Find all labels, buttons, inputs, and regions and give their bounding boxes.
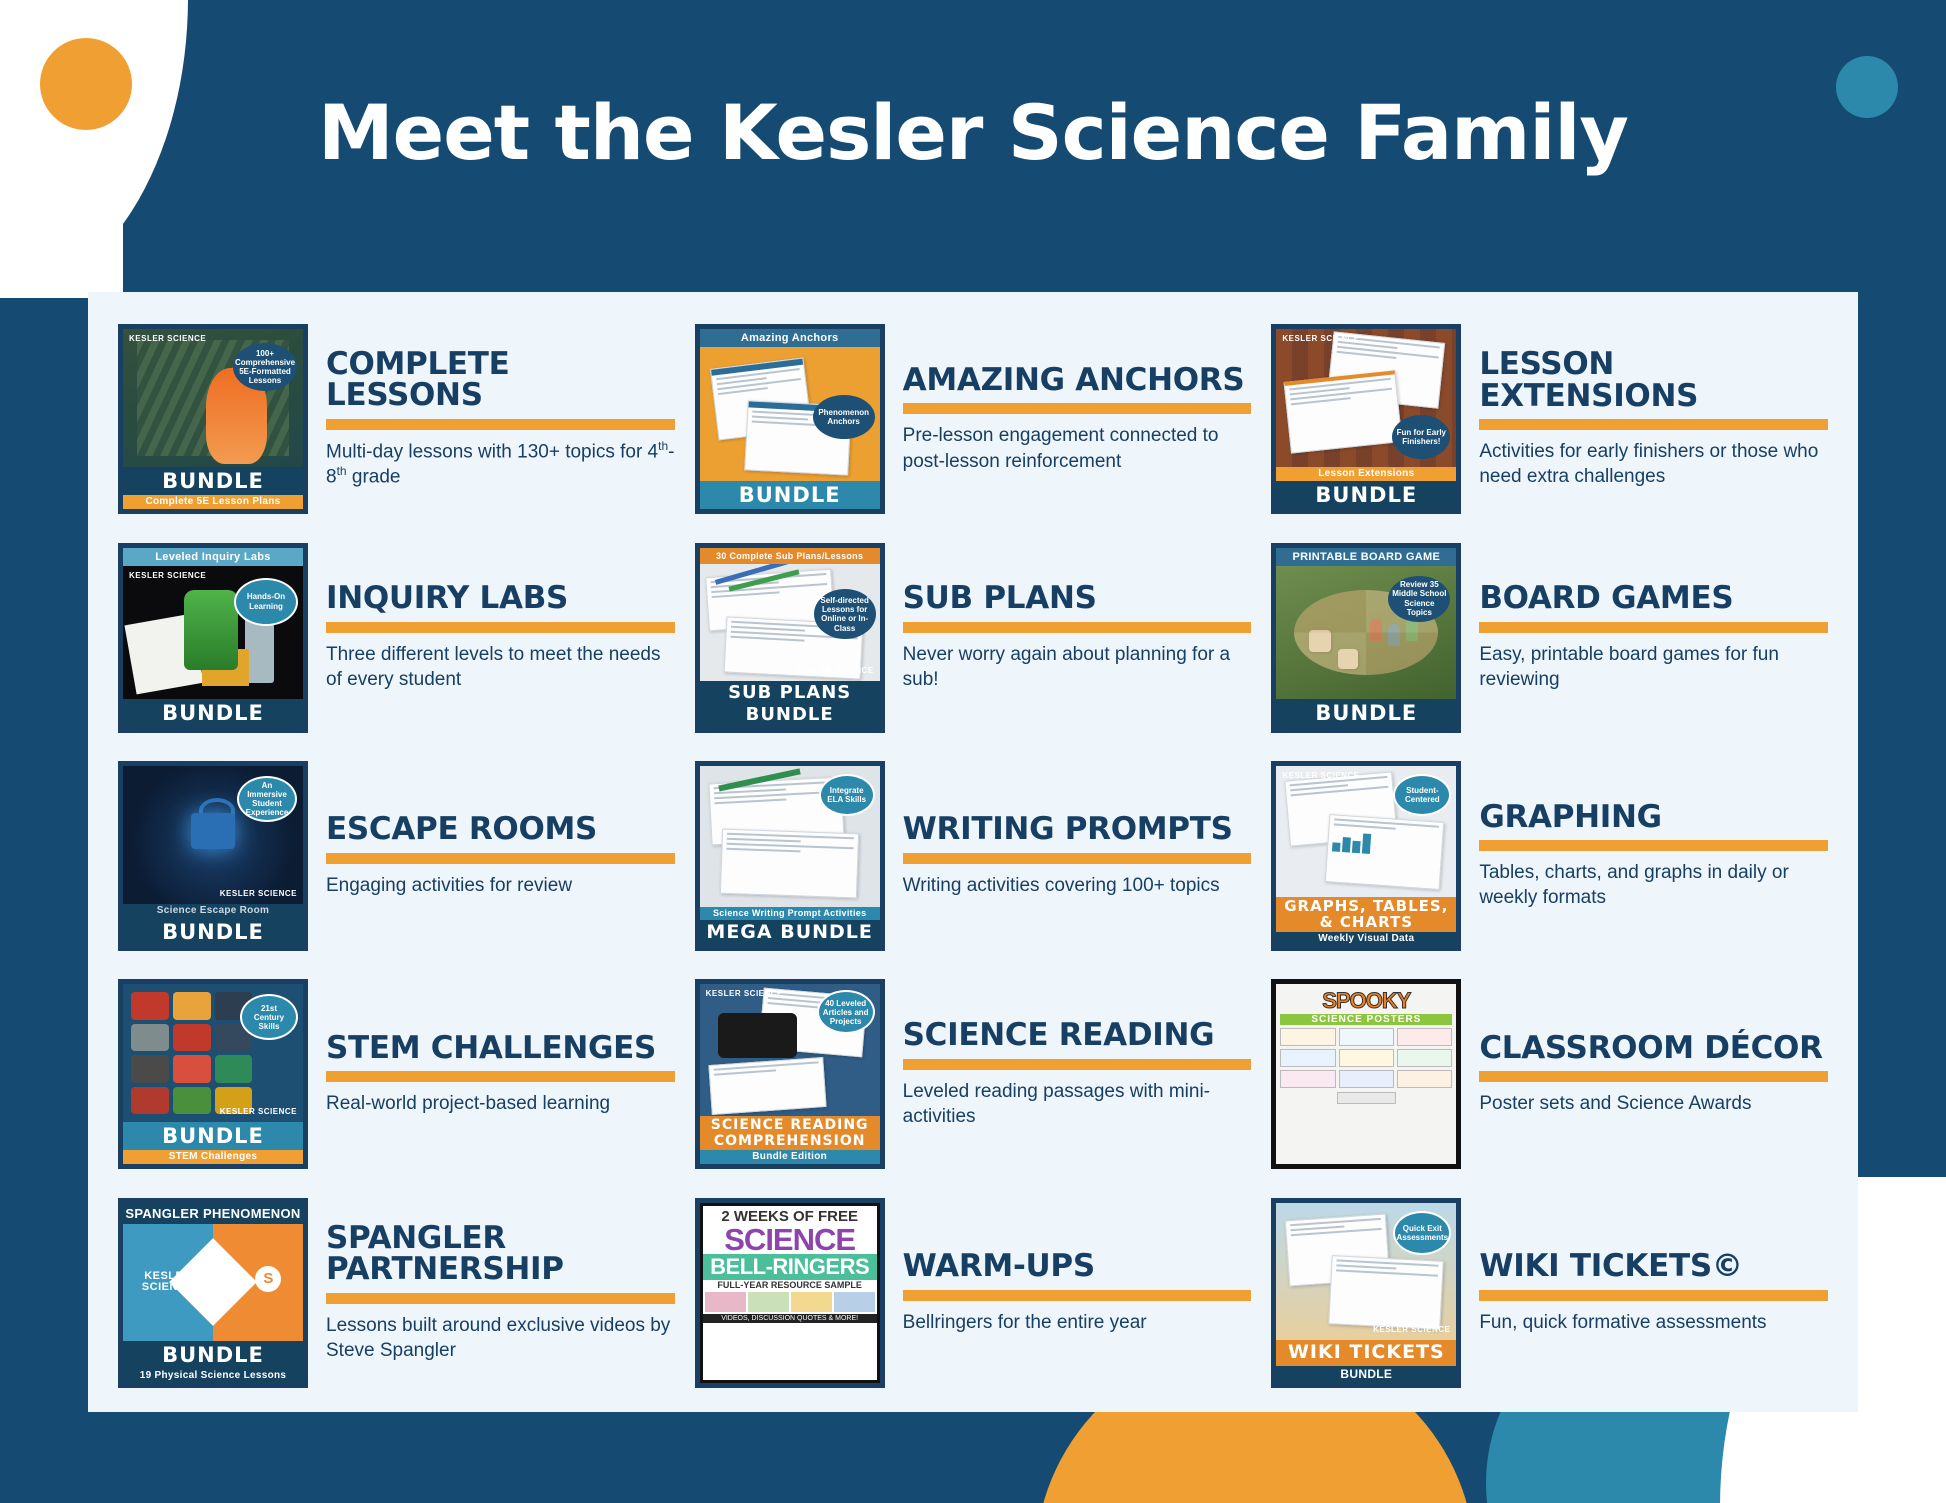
- card-description: Lessons built around exclusive videos by…: [326, 1313, 675, 1363]
- card-divider: [903, 1290, 1252, 1301]
- thumbnail-badge: An Immersive Student Experience: [237, 776, 297, 822]
- product-card-escape-rooms[interactable]: KESLER SCIENCE An Immersive Student Expe…: [112, 747, 681, 965]
- card-description: Tables, charts, and graphs in daily or w…: [1479, 860, 1828, 910]
- product-thumbnail[interactable]: KESLER SCIENCE Quick Exit Assessments WI…: [1271, 1198, 1461, 1388]
- thumbnail-sub-label: Science Writing Prompt Activities: [700, 907, 880, 920]
- card-description: Engaging activities for review: [326, 873, 675, 898]
- thumbnail-badge: 100+ Comprehensive 5E-Formatted Lessons: [233, 343, 297, 391]
- card-divider: [1479, 419, 1828, 430]
- product-card-lesson-extensions[interactable]: KESLER SCIENCE Fun for Early Finishers! …: [1265, 310, 1834, 528]
- card-body: CLASSROOM DÉCOR Poster sets and Science …: [1479, 1033, 1828, 1117]
- card-body: WRITING PROMPTS Writing activities cover…: [903, 814, 1252, 898]
- card-body: WIKI TICKETS© Fun, quick formative asses…: [1479, 1251, 1828, 1335]
- card-divider: [903, 403, 1252, 414]
- thumbnail-footer-label: SUB PLANS BUNDLE: [700, 681, 880, 728]
- card-description: Multi-day lessons with 130+ topics for 4…: [326, 439, 675, 490]
- product-card-spangler-partnership[interactable]: SPANGLER PHENOMENON KESLER SCIENCE S BUN…: [112, 1184, 681, 1402]
- kesler-logo-icon: KESLER SCIENCE: [706, 990, 783, 998]
- card-description: Writing activities covering 100+ topics: [903, 873, 1252, 898]
- kesler-logo-icon: KESLER SCIENCE: [1282, 335, 1359, 343]
- thumbnail-art-spooky-posters: SPOOKY SCIENCE POSTERS: [1276, 984, 1456, 1164]
- thumbnail-footer-label: GRAPHS, TABLES, & CHARTS: [1276, 897, 1456, 932]
- thumbnail-footer-label: BUNDLE: [123, 699, 303, 727]
- product-card-board-games[interactable]: PRINTABLE BOARD GAME Review 35 Middle Sc…: [1265, 528, 1834, 746]
- card-description: Real-world project-based learning: [326, 1091, 675, 1116]
- card-divider: [326, 853, 675, 864]
- thumbnail-sub-label: Bundle Edition: [700, 1150, 880, 1164]
- product-thumbnail[interactable]: KESLER SCIENCE 21st Century Skills BUNDL…: [118, 979, 308, 1169]
- card-title: SCIENCE READING: [903, 1020, 1252, 1052]
- thumbnail-badge: Self-directed Lessons for Online or In-C…: [814, 589, 876, 639]
- product-thumbnail[interactable]: 2 WEEKS OF FREE SCIENCE BELL-RINGERS FUL…: [695, 1198, 885, 1388]
- product-thumbnail[interactable]: SPANGLER PHENOMENON KESLER SCIENCE S BUN…: [118, 1198, 308, 1388]
- product-card-writing-prompts[interactable]: Integrate ELA Skills Science Writing Pro…: [689, 747, 1258, 965]
- product-thumbnail[interactable]: Amazing Anchors Phenomenon Anchors BUNDL…: [695, 324, 885, 514]
- thumbnail-top-label: PRINTABLE BOARD GAME: [1276, 548, 1456, 566]
- card-divider: [326, 1071, 675, 1082]
- thumbnail-footer-label: BUNDLE: [1276, 699, 1456, 727]
- card-title: ESCAPE ROOMS: [326, 814, 675, 846]
- product-card-science-reading[interactable]: KESLER SCIENCE 40 Leveled Articles and P…: [689, 965, 1258, 1183]
- card-divider: [1479, 622, 1828, 633]
- thumbnail-sub-label: Science Escape Room: [123, 904, 303, 918]
- thumbnail-art-spangler: KESLER SCIENCE S: [123, 1224, 303, 1341]
- product-card-amazing-anchors[interactable]: Amazing Anchors Phenomenon Anchors BUNDL…: [689, 310, 1258, 528]
- card-body: STEM CHALLENGES Real-world project-based…: [326, 1033, 675, 1117]
- card-body: AMAZING ANCHORS Pre-lesson engagement co…: [903, 365, 1252, 474]
- thumbnail-top-label: SPANGLER PHENOMENON: [123, 1203, 303, 1224]
- card-description: Pre-lesson engagement connected to post-…: [903, 423, 1252, 473]
- thumbnail-top-label: 30 Complete Sub Plans/Lessons: [700, 548, 880, 564]
- thumbnail-art-extensions: KESLER SCIENCE Fun for Early Finishers!: [1276, 329, 1456, 467]
- card-body: SCIENCE READING Leveled reading passages…: [903, 1020, 1252, 1129]
- card-divider: [326, 622, 675, 633]
- thumbnail-top-label: SPOOKY: [1280, 988, 1452, 1014]
- card-body: BOARD GAMES Easy, printable board games …: [1479, 583, 1828, 692]
- kesler-logo-icon: KESLER SCIENCE: [220, 890, 297, 898]
- thumbnail-art-reading: KESLER SCIENCE 40 Leveled Articles and P…: [700, 984, 880, 1116]
- thumbnail-footer-label: MEGA BUNDLE: [700, 920, 880, 946]
- product-thumbnail[interactable]: 30 Complete Sub Plans/Lessons KESLER SCI…: [695, 543, 885, 733]
- card-description: Fun, quick formative assessments: [1479, 1310, 1828, 1335]
- thumbnail-sub-label: 19 Physical Science Lessons: [123, 1369, 303, 1383]
- product-card-classroom-decor[interactable]: SPOOKY SCIENCE POSTERS: [1265, 965, 1834, 1183]
- card-divider: [903, 622, 1252, 633]
- card-title: SUB PLANS: [903, 583, 1252, 615]
- card-title: BOARD GAMES: [1479, 583, 1828, 615]
- product-card-complete-lessons[interactable]: KESLER SCIENCE 100+ Comprehensive 5E-For…: [112, 310, 681, 528]
- card-divider: [326, 1293, 675, 1304]
- card-title: INQUIRY LABS: [326, 583, 675, 615]
- card-title: GRAPHING: [1479, 802, 1828, 834]
- kesler-logo-icon: KESLER SCIENCE: [796, 667, 873, 675]
- thumbnail-sub-label: FULL-YEAR RESOURCE SAMPLE: [703, 1280, 877, 1290]
- product-thumbnail[interactable]: Leveled Inquiry Labs KESLER SCIENCE Hand…: [118, 543, 308, 733]
- thumbnail-art-subplans: KESLER SCIENCE Self-directed Lessons for…: [700, 564, 880, 681]
- thumbnail-badge: Review 35 Middle School Science Topics: [1388, 576, 1450, 622]
- thumbnail-badge: Integrate ELA Skills: [819, 774, 875, 816]
- thumbnail-art-graphing: KESLER SCIENCE Student-Centered: [1276, 766, 1456, 897]
- thumbnail-art-bell-ringers: 2 WEEKS OF FREE SCIENCE BELL-RINGERS FUL…: [700, 1203, 880, 1383]
- card-body: SUB PLANS Never worry again about planni…: [903, 583, 1252, 692]
- decor-white-dot: [1820, 1435, 1864, 1479]
- thumbnail-art-wiki-tickets: KESLER SCIENCE Quick Exit Assessments: [1276, 1203, 1456, 1340]
- thumbnail-badge: Fun for Early Finishers!: [1392, 415, 1450, 459]
- page-title: Meet the Kesler Science Family: [0, 88, 1946, 177]
- product-card-sub-plans[interactable]: 30 Complete Sub Plans/Lessons KESLER SCI…: [689, 528, 1258, 746]
- thumbnail-badge: Phenomenon Anchors: [813, 395, 875, 439]
- kesler-logo-icon: KESLER SCIENCE: [220, 1108, 297, 1116]
- thumbnail-footer-label: BUNDLE: [123, 1341, 303, 1369]
- thumbnail-sub-label: Complete 5E Lesson Plans: [123, 495, 303, 509]
- thumbnail-badge: Quick Exit Assessments: [1393, 1211, 1451, 1255]
- card-description: Three different levels to meet the needs…: [326, 642, 675, 692]
- product-thumbnail[interactable]: KESLER SCIENCE An Immersive Student Expe…: [118, 761, 308, 951]
- card-body: LESSON EXTENSIONS Activities for early f…: [1479, 349, 1828, 489]
- thumbnail-top-label: Leveled Inquiry Labs: [123, 548, 303, 566]
- card-divider: [903, 853, 1252, 864]
- card-divider: [1479, 840, 1828, 851]
- card-body: WARM-UPS Bellringers for the entire year: [903, 1251, 1252, 1335]
- product-grid: KESLER SCIENCE 100+ Comprehensive 5E-For…: [88, 292, 1858, 1412]
- product-card-graphing[interactable]: KESLER SCIENCE Student-Centered GRAPHS, …: [1265, 747, 1834, 965]
- kesler-logo-icon: KESLER SCIENCE: [1282, 772, 1359, 780]
- thumbnail-art-writing: Integrate ELA Skills: [700, 766, 880, 907]
- card-body: GRAPHING Tables, charts, and graphs in d…: [1479, 802, 1828, 911]
- product-thumbnail[interactable]: Integrate ELA Skills Science Writing Pro…: [695, 761, 885, 951]
- card-title: LESSON EXTENSIONS: [1479, 349, 1828, 412]
- product-thumbnail[interactable]: PRINTABLE BOARD GAME Review 35 Middle Sc…: [1271, 543, 1461, 733]
- card-title: AMAZING ANCHORS: [903, 365, 1252, 397]
- kesler-logo-icon: KESLER SCIENCE: [129, 335, 206, 343]
- thumbnail-footer-label: SCIENCE POSTERS: [1280, 1014, 1452, 1025]
- kesler-logo-icon: KESLER SCIENCE: [129, 572, 206, 580]
- card-description: Poster sets and Science Awards: [1479, 1091, 1828, 1116]
- card-title: WRITING PROMPTS: [903, 814, 1252, 846]
- thumbnail-footer-label: BUNDLE: [123, 918, 303, 946]
- thumbnail-badge: Hands-On Learning: [234, 578, 298, 626]
- card-divider: [1479, 1290, 1828, 1301]
- card-description: Bellringers for the entire year: [903, 1310, 1252, 1335]
- card-body: INQUIRY LABS Three different levels to m…: [326, 583, 675, 692]
- product-thumbnail[interactable]: KESLER SCIENCE 100+ Comprehensive 5E-For…: [118, 324, 308, 514]
- thumbnail-footer-label: SCIENCE READING COMPREHENSION: [700, 1116, 880, 1150]
- card-description: Activities for early finishers or those …: [1479, 439, 1828, 489]
- thumbnail-footer-label: WIKI TICKETS: [1276, 1340, 1456, 1366]
- thumbnail-art-anemone: KESLER SCIENCE 100+ Comprehensive 5E-For…: [123, 329, 303, 467]
- thumbnail-footer-label: BUNDLE: [123, 467, 303, 495]
- thumbnail-art-board-game: Review 35 Middle School Science Topics: [1276, 566, 1456, 700]
- card-title: STEM CHALLENGES: [326, 1033, 675, 1065]
- card-description: Leveled reading passages with mini-activ…: [903, 1079, 1252, 1129]
- card-title: WIKI TICKETS©: [1479, 1251, 1828, 1283]
- card-divider: [326, 419, 675, 430]
- product-card-inquiry-labs[interactable]: Leveled Inquiry Labs KESLER SCIENCE Hand…: [112, 528, 681, 746]
- card-body: COMPLETE LESSONS Multi-day lessons with …: [326, 349, 675, 490]
- thumbnail-sub-label: BUNDLE: [1276, 1366, 1456, 1383]
- thumbnail-art-stem: KESLER SCIENCE 21st Century Skills: [123, 984, 303, 1122]
- product-card-stem-challenges[interactable]: KESLER SCIENCE 21st Century Skills BUNDL…: [112, 965, 681, 1183]
- card-body: SPANGLER PARTNERSHIP Lessons built aroun…: [326, 1223, 675, 1363]
- thumbnail-top-label: Amazing Anchors: [700, 329, 880, 347]
- thumbnail-badge: 40 Leveled Articles and Projects: [817, 990, 875, 1034]
- thumbnail-footer-label: BUNDLE: [1276, 481, 1456, 509]
- card-divider: [1479, 1071, 1828, 1082]
- thumbnail-footer-label: BUNDLE: [700, 481, 880, 509]
- card-body: ESCAPE ROOMS Engaging activities for rev…: [326, 814, 675, 898]
- card-description: Never worry again about planning for a s…: [903, 642, 1252, 692]
- card-description: Easy, printable board games for fun revi…: [1479, 642, 1828, 692]
- card-divider: [903, 1059, 1252, 1070]
- product-thumbnail[interactable]: SPOOKY SCIENCE POSTERS: [1271, 979, 1461, 1169]
- product-thumbnail[interactable]: KESLER SCIENCE 40 Leveled Articles and P…: [695, 979, 885, 1169]
- thumbnail-sub-label: STEM Challenges: [123, 1150, 303, 1164]
- product-card-wiki-tickets[interactable]: KESLER SCIENCE Quick Exit Assessments WI…: [1265, 1184, 1834, 1402]
- card-title: CLASSROOM DÉCOR: [1479, 1033, 1828, 1065]
- card-title: SPANGLER PARTNERSHIP: [326, 1223, 675, 1286]
- thumbnail-art-anchors: Phenomenon Anchors: [700, 347, 880, 481]
- product-thumbnail[interactable]: KESLER SCIENCE Student-Centered GRAPHS, …: [1271, 761, 1461, 951]
- thumbnail-sub-label: Lesson Extensions: [1276, 467, 1456, 481]
- thumbnail-brand-label: VIDEOS, DISCUSSION QUOTES & MORE!: [703, 1314, 877, 1323]
- card-title: WARM-UPS: [903, 1251, 1252, 1283]
- thumbnail-sub-label: Weekly Visual Data: [1276, 932, 1456, 946]
- product-card-warm-ups[interactable]: 2 WEEKS OF FREE SCIENCE BELL-RINGERS FUL…: [689, 1184, 1258, 1402]
- thumbnail-art-escape-room: KESLER SCIENCE An Immersive Student Expe…: [123, 766, 303, 904]
- kesler-logo-icon: KESLER SCIENCE: [123, 1271, 213, 1293]
- thumbnail-footer-label: BUNDLE: [123, 1122, 303, 1150]
- thumbnail-art-inquiry: KESLER SCIENCE Hands-On Learning: [123, 566, 303, 700]
- card-title: COMPLETE LESSONS: [326, 349, 675, 412]
- product-thumbnail[interactable]: KESLER SCIENCE Fun for Early Finishers! …: [1271, 324, 1461, 514]
- kesler-logo-icon: KESLER SCIENCE: [1373, 1326, 1450, 1334]
- thumbnail-badge: Student-Centered: [1393, 774, 1451, 816]
